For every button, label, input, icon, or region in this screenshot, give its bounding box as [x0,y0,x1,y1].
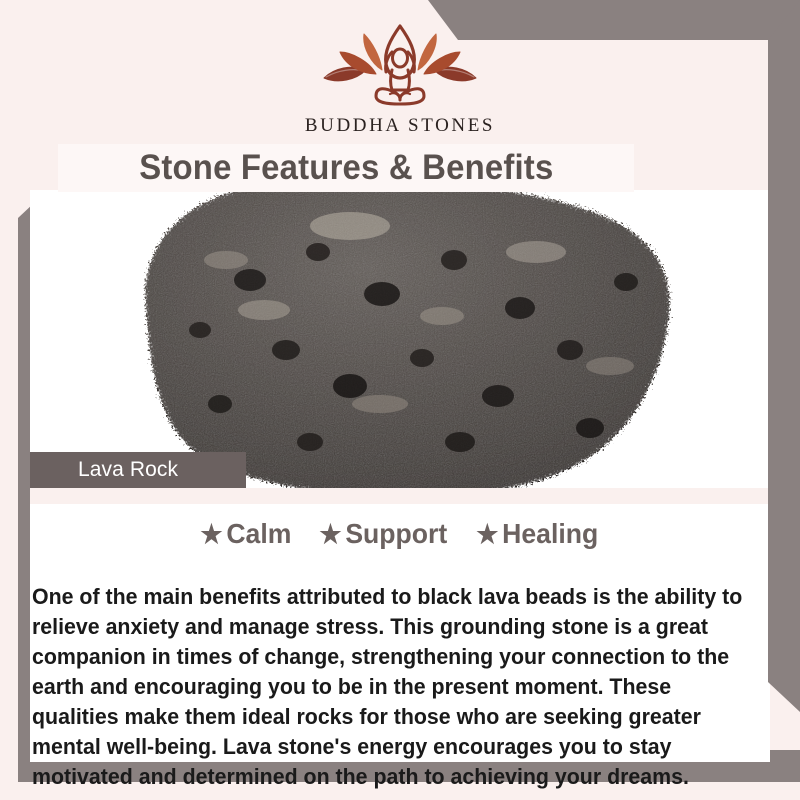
star-icon: ★ [477,519,499,549]
page-title: Stone Features & Benefits [139,148,553,188]
star-icon: ★ [201,519,223,549]
benefit-tags: ★Calm ★Support ★Healing [30,518,770,550]
benefits-paragraph: One of the main benefits attributed to b… [32,582,758,792]
section-separator [30,488,770,504]
stone-features-poster: BUDDHA STONES Stone Features & Benefits [0,0,800,800]
brand-name: BUDDHA STONES [0,115,800,137]
title-band: Stone Features & Benefits [58,144,634,192]
frame-accent-right [768,0,800,712]
star-icon: ★ [320,519,342,549]
benefit-tag-label: Healing [503,518,599,549]
stone-name: Lava Rock [30,458,178,482]
benefit-tag-label: Support [346,518,448,549]
body-section: ★Calm ★Support ★Healing One of the main … [30,504,770,762]
benefit-tag-support: ★Support [320,518,448,550]
benefit-tag-calm: ★Calm [201,518,292,550]
stone-name-bar: Lava Rock [30,452,246,488]
lava-rock-photo [30,190,770,488]
benefit-tag-healing: ★Healing [477,518,599,550]
benefit-tag-label: Calm [226,518,291,549]
